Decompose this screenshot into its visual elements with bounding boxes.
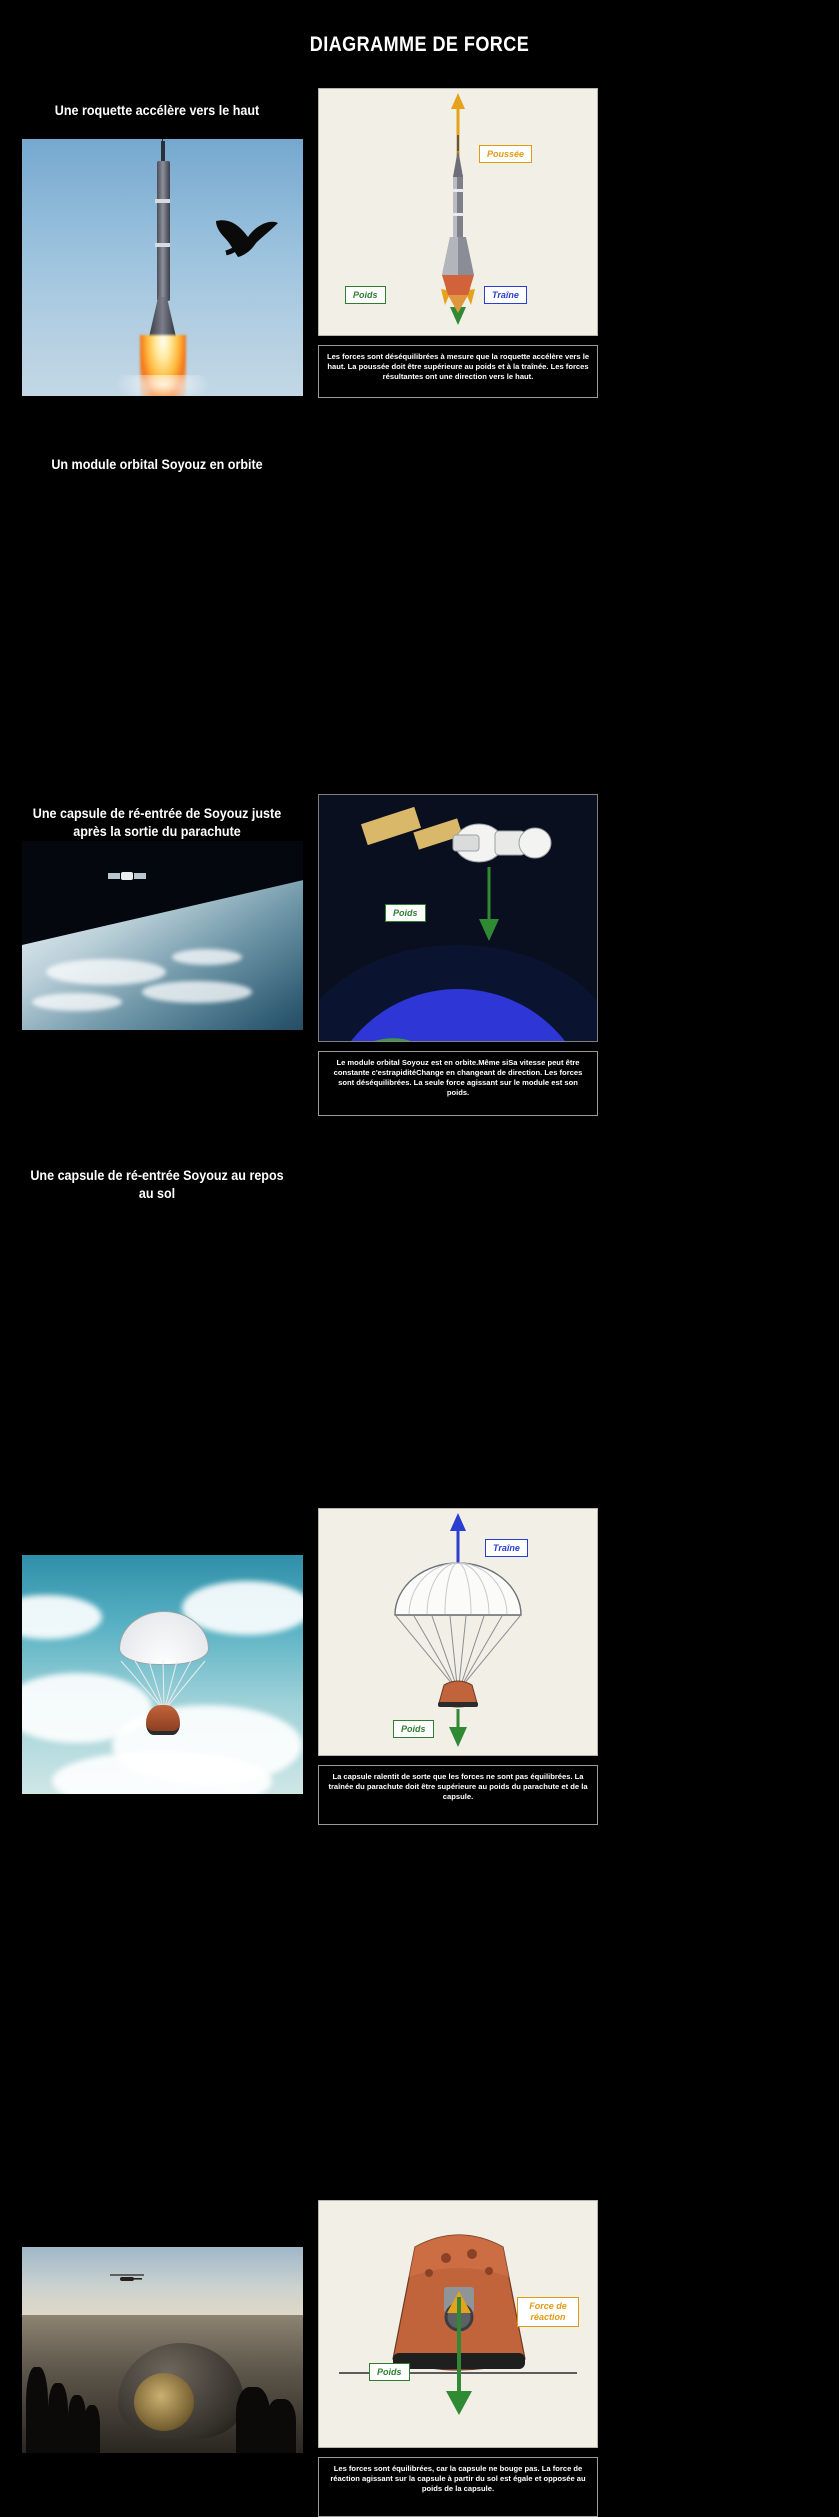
rocket-boosters-icon [149,297,176,337]
label-reaction-force: Force de réaction [517,2297,579,2327]
rocket-band-icon [155,199,170,203]
rocket-body-icon [157,161,170,301]
panel-heading: Une capsule de ré-entrée de Soyouz juste… [22,805,292,841]
bird-icon [212,215,282,261]
capsule-hatch-icon [134,2373,194,2431]
force-arrows-orbital-module [319,795,597,1041]
satellite-icon [108,869,146,883]
panel-heading: Une roquette accélère vers le haut [22,102,292,120]
force-diagram-orbital-module: Poids [318,794,598,1042]
force-diagram-parachute: Traîne Poids [318,1508,598,1756]
label-drag: Traîne [484,286,527,304]
panel-caption: Le module orbital Soyouz est en orbite.M… [318,1051,598,1116]
label-weight: Poids [369,2363,410,2381]
label-drag: Traîne [485,1539,528,1557]
panel-photo-orbit [22,841,303,1030]
panel-heading: Un module orbital Soyouz en orbite [22,456,292,474]
force-arrows-parachute [319,1509,597,1755]
helicopter-icon [110,2273,144,2283]
rocket-band-icon [155,243,170,247]
parachute-cords-icon [119,1659,207,1709]
label-weight: Poids [393,1720,434,1738]
label-weight: Poids [385,904,426,922]
panel-caption: Les forces sont déséquilibrées à mesure … [318,345,598,398]
panel-photo-ground-recovery [22,2247,303,2453]
panel-caption: La capsule ralentit de sorte que les for… [318,1765,598,1825]
label-weight: Poids [345,286,386,304]
force-diagram-capsule-at-rest: Force de réaction Poids [318,2200,598,2448]
panel-photo-parachute [22,1555,303,1794]
panel-heading: Une capsule de ré-entrée Soyouz au repos… [22,1167,292,1203]
panel-caption: Les forces sont équilibrées, car la caps… [318,2457,598,2517]
capsule-icon [146,1705,180,1735]
label-thrust: Poussée [479,145,532,163]
panel-photo-rocket-launch [22,139,303,396]
rocket-smoke-icon [115,375,211,396]
sky-background [22,2247,303,2319]
force-diagram-rocket: Poussée Poids Traîne [318,88,598,336]
page-title: DIAGRAMME DE FORCE [59,33,781,57]
